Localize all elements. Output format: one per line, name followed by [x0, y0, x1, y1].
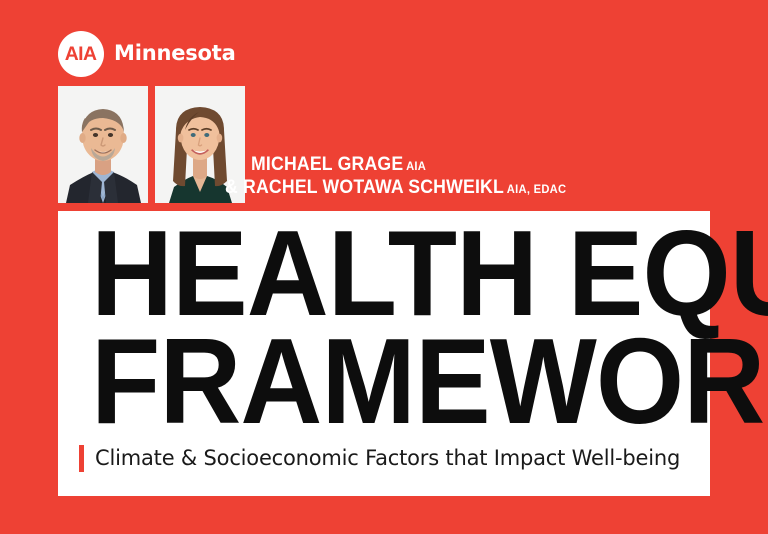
headshot-illustration-icon — [58, 86, 148, 203]
presenter-name-2-text: & RACHEL WOTAWA SCHWEIKL — [225, 177, 504, 198]
logo-wordmark: Minnesota — [114, 43, 236, 65]
subtitle-row: Climate & Socioeconomic Factors that Imp… — [79, 445, 680, 472]
aia-logo-text: AIA — [65, 45, 97, 64]
title-line-2: FRAMEWORK — [91, 327, 768, 435]
presenter-name-2: & RACHEL WOTAWA SCHWEIKLAIA, EDAC — [225, 177, 566, 200]
aia-minnesota-logo: AIA Minnesota — [58, 31, 236, 77]
health-equity-framework-title-slide: AIA Minnesota — [0, 0, 768, 534]
presenter-photo-michael-grage — [58, 86, 148, 203]
page-subtitle: Climate & Socioeconomic Factors that Imp… — [95, 448, 680, 469]
title-line-1: HEALTH EQUITY — [91, 219, 768, 327]
presenter-credentials-1: AIA — [403, 159, 426, 173]
accent-bar — [79, 445, 84, 472]
aia-circle-logo-icon: AIA — [58, 31, 104, 77]
title-panel: HEALTH EQUITY FRAMEWORK Climate & Socioe… — [58, 211, 710, 496]
presenter-credentials-2: AIA, EDAC — [504, 182, 566, 196]
presenter-names: MICHAEL GRAGEAIA & RACHEL WOTAWA SCHWEIK… — [251, 154, 592, 200]
presenter-name-1-text: MICHAEL GRAGE — [251, 154, 403, 175]
page-title: HEALTH EQUITY FRAMEWORK — [91, 219, 768, 435]
presenter-name-1: MICHAEL GRAGEAIA — [251, 154, 568, 177]
